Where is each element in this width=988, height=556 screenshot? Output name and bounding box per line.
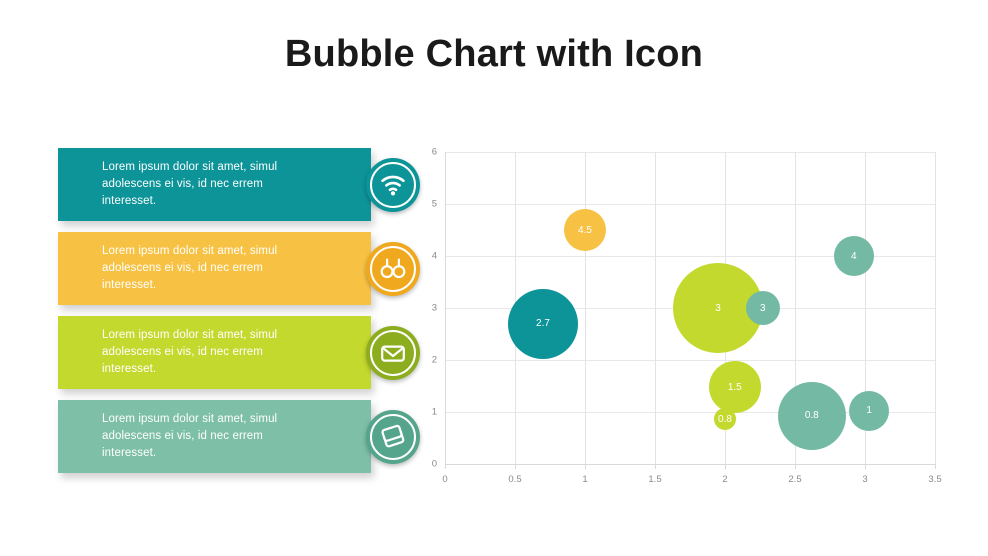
info-bar-text: Lorem ipsum dolor sit amet, simul adoles… (58, 243, 371, 294)
glasses-icon[interactable] (366, 242, 420, 296)
y-axis-tick-label: 1 (415, 407, 437, 418)
info-bar-body: Lorem ipsum dolor sit amet, simul adoles… (58, 316, 371, 389)
y-axis-tick-label: 2 (415, 355, 437, 366)
x-axis-tick-label: 2 (705, 474, 745, 485)
x-axis-tick-label: 1.5 (635, 474, 675, 485)
info-bar-text: Lorem ipsum dolor sit amet, simul adoles… (58, 327, 371, 378)
y-axis-tick-label: 0 (415, 459, 437, 470)
y-axis-tick-label: 5 (415, 199, 437, 210)
bubble-data-point[interactable]: 1 (849, 391, 889, 431)
x-axis-tick-label: 1 (565, 474, 605, 485)
x-axis-tick-label: 0 (425, 474, 465, 485)
stacked-layers-icon[interactable] (366, 410, 420, 464)
chart-plot-area: 012345600.511.522.533.52.74.531.50.8340.… (445, 152, 935, 464)
y-axis-tick-label: 4 (415, 251, 437, 262)
wifi-icon[interactable] (366, 158, 420, 212)
gridline-vertical (655, 152, 656, 464)
x-axis-line (445, 464, 935, 465)
bubble-data-point[interactable]: 0.8 (778, 382, 846, 450)
page-title: Bubble Chart with Icon (0, 33, 988, 76)
info-bars-panel: Lorem ipsum dolor sit amet, simul adoles… (58, 148, 378, 473)
x-axis-tick-label: 2.5 (775, 474, 815, 485)
x-axis-tick-mark (935, 464, 936, 469)
bubble-value-label: 4.5 (578, 225, 592, 236)
bubble-value-label: 1 (866, 405, 872, 416)
bubble-value-label: 4 (851, 251, 857, 262)
bubble-data-point[interactable]: 2.7 (508, 289, 578, 359)
envelope-icon-glyph (379, 339, 407, 367)
bubble-value-label: 1.5 (728, 382, 742, 393)
bubble-data-point[interactable]: 4.5 (564, 209, 606, 251)
gridline-horizontal (445, 204, 935, 205)
gridline-horizontal (445, 360, 935, 361)
info-bar-glasses[interactable]: Lorem ipsum dolor sit amet, simul adoles… (58, 232, 371, 305)
info-bar-body: Lorem ipsum dolor sit amet, simul adoles… (58, 400, 371, 473)
x-axis-tick-label: 0.5 (495, 474, 535, 485)
glasses-icon-glyph (379, 255, 407, 283)
bubble-value-label: 0.8 (718, 414, 732, 425)
bubble-data-point[interactable]: 4 (834, 236, 874, 276)
bubble-data-point[interactable]: 3 (746, 291, 780, 325)
info-bar-wifi[interactable]: Lorem ipsum dolor sit amet, simul adoles… (58, 148, 371, 221)
gridline-horizontal (445, 152, 935, 153)
info-bar-body: Lorem ipsum dolor sit amet, simul adoles… (58, 148, 371, 221)
gridline-vertical (935, 152, 936, 464)
bubble-value-label: 3 (715, 303, 721, 314)
info-bar-mail[interactable]: Lorem ipsum dolor sit amet, simul adoles… (58, 316, 371, 389)
wifi-icon-glyph (379, 171, 407, 199)
info-bar-body: Lorem ipsum dolor sit amet, simul adoles… (58, 232, 371, 305)
bubble-value-label: 2.7 (536, 318, 550, 329)
y-axis-line (445, 152, 446, 464)
info-bar-layers[interactable]: Lorem ipsum dolor sit amet, simul adoles… (58, 400, 371, 473)
bubble-value-label: 3 (760, 303, 766, 314)
x-axis-tick-label: 3.5 (915, 474, 955, 485)
y-axis-tick-label: 3 (415, 303, 437, 314)
envelope-icon[interactable] (366, 326, 420, 380)
info-bar-text: Lorem ipsum dolor sit amet, simul adoles… (58, 411, 371, 462)
x-axis-tick-label: 3 (845, 474, 885, 485)
bubble-data-point[interactable]: 1.5 (709, 361, 761, 413)
stacked-layers-icon-glyph (379, 423, 407, 451)
bubble-chart: 012345600.511.522.533.52.74.531.50.8340.… (420, 140, 965, 485)
y-axis-tick-label: 6 (415, 147, 437, 158)
info-bar-text: Lorem ipsum dolor sit amet, simul adoles… (58, 159, 371, 210)
gridline-vertical (585, 152, 586, 464)
bubble-value-label: 0.8 (805, 410, 819, 421)
bubble-data-point[interactable]: 0.8 (714, 408, 736, 430)
